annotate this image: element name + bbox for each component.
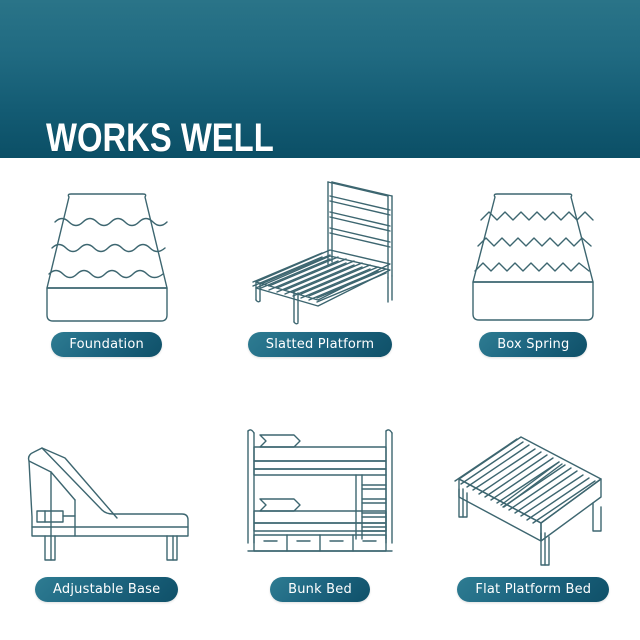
base-card-box-spring[interactable]: Box Spring: [427, 158, 640, 399]
base-card-foundation[interactable]: Foundation: [0, 158, 213, 399]
box-spring-icon: [433, 170, 633, 328]
base-label-adjustable-base: Adjustable Base: [35, 577, 178, 602]
foundation-mattress-icon: [7, 170, 207, 328]
page-title: WORKS WELL WITH THESE BASES: [46, 26, 370, 158]
flat-platform-bed-icon: [433, 417, 633, 575]
slatted-platform-bed-icon: [220, 170, 420, 328]
infographic-page: WORKS WELL WITH THESE BASES Foundation: [0, 0, 640, 640]
bases-grid: Foundation: [0, 158, 640, 640]
page-title-line-1: WORKS WELL: [46, 116, 370, 158]
base-label-foundation: Foundation: [51, 332, 162, 357]
adjustable-base-icon: [7, 417, 207, 575]
base-label-flat-platform-bed: Flat Platform Bed: [457, 577, 609, 602]
base-card-flat-platform-bed[interactable]: Flat Platform Bed: [427, 399, 640, 640]
base-label-box-spring: Box Spring: [479, 332, 587, 357]
base-card-adjustable-base[interactable]: Adjustable Base: [0, 399, 213, 640]
header-banner: WORKS WELL WITH THESE BASES: [0, 0, 640, 158]
base-card-slatted-platform[interactable]: Slatted Platform: [213, 158, 426, 399]
bunk-bed-icon: [220, 417, 420, 575]
base-label-slatted-platform: Slatted Platform: [248, 332, 392, 357]
base-card-bunk-bed[interactable]: Bunk Bed: [213, 399, 426, 640]
base-label-bunk-bed: Bunk Bed: [270, 577, 370, 602]
